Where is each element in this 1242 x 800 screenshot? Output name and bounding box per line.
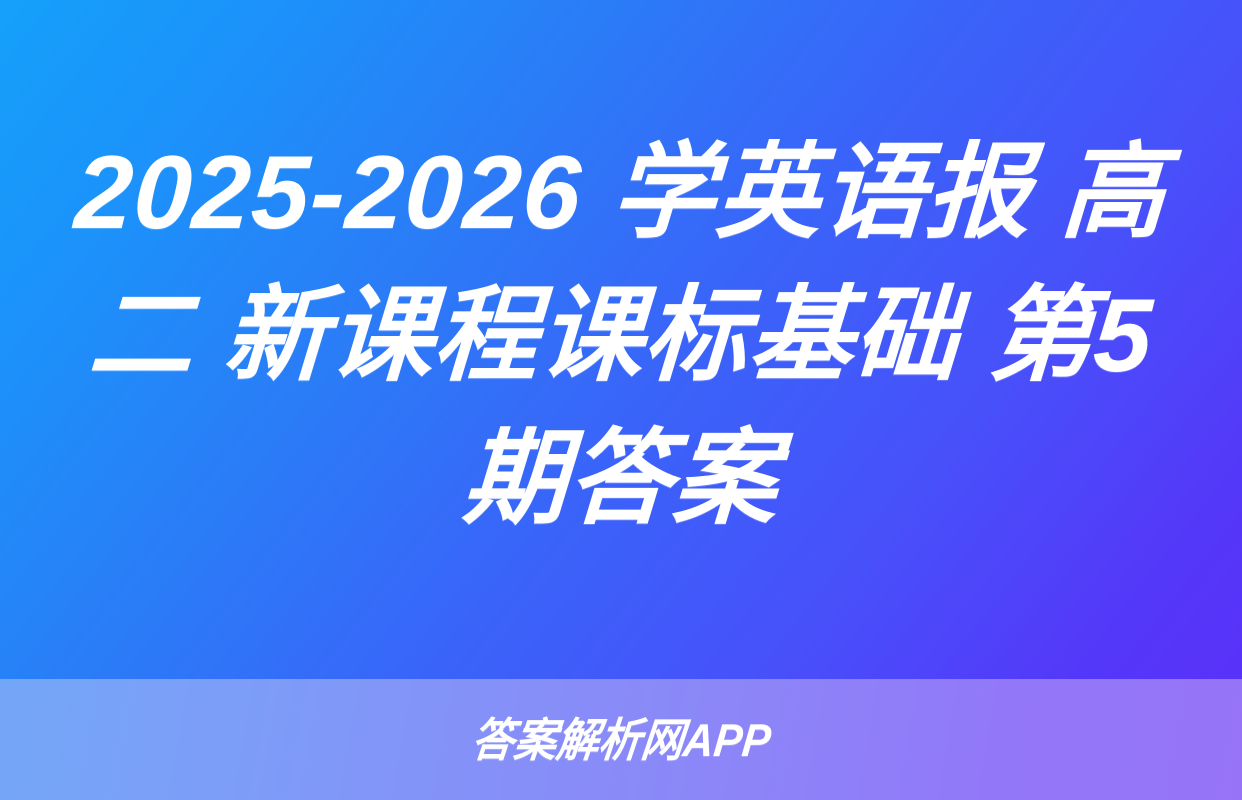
- title-block: 2025-2026 学英语报 高 二 新课程课标基础 第5 期答案: [0, 0, 1242, 679]
- app-watermark-label: 答案解析网APP: [469, 715, 773, 765]
- title-line-1: 2025-2026 学英语报 高: [72, 122, 1171, 265]
- title-line-2: 二 新课程课标基础 第5: [85, 265, 1156, 408]
- poster-canvas: 2025-2026 学英语报 高 二 新课程课标基础 第5 期答案 答案解析网A…: [0, 0, 1242, 800]
- footer-watermark-band: 答案解析网APP: [0, 679, 1242, 800]
- title-line-3: 期答案: [460, 408, 783, 551]
